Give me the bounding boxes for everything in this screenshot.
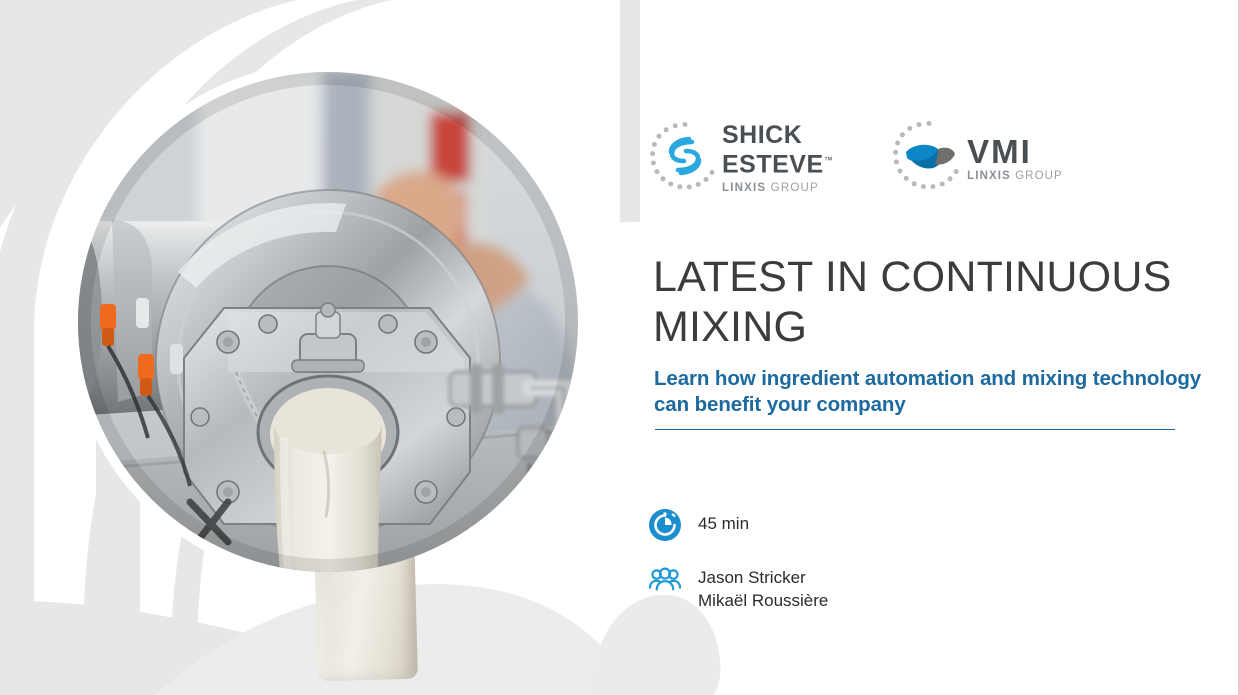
presenter-name-2: Mikaël Roussière [698,589,828,612]
title-divider [655,429,1175,430]
vmi-group-bold: LINXIS [967,170,1011,182]
vmi-group-light: GROUP [1015,170,1063,182]
shick-esteve-name-line2: ESTEVE [722,150,824,178]
people-group-icon [648,562,682,596]
logo-shick-esteve: SHICK ESTEVE™ LINXIS GROUP [648,119,833,198]
shick-esteve-wordmark: SHICK ESTEVE™ LINXIS GROUP [722,123,833,194]
presenter-name-1: Jason Stricker [698,566,828,589]
vmi-logo-mark [891,118,967,199]
logo-vmi: VMI LINXIS GROUP [891,118,1063,199]
presenter-names: Jason Stricker Mikaël Roussière [698,562,828,612]
logo-row: SHICK ESTEVE™ LINXIS GROUP [648,118,1063,199]
webinar-title-slide: SHICK ESTEVE™ LINXIS GROUP [0,0,1239,695]
content-column: SHICK ESTEVE™ LINXIS GROUP [640,0,1239,695]
duration-label: 45 min [698,508,749,535]
duration-row: 45 min [648,508,828,542]
shick-esteve-group-light: GROUP [771,182,819,194]
shick-esteve-group-bold: LINXIS [722,182,766,194]
vmi-wordmark: VMI LINXIS GROUP [967,136,1063,182]
shick-esteve-name-line1: SHICK [722,121,802,149]
page-subtitle: Learn how ingredient automation and mixi… [654,366,1238,418]
hero-photo [68,62,588,582]
shick-esteve-logo-mark [648,119,722,198]
page-title: LATEST IN CONTINUOUS MIXING [653,252,1233,352]
trademark-symbol: ™ [824,155,834,165]
vmi-name: VMI [967,136,1063,168]
photo-circle-clip [78,72,578,572]
stopwatch-icon [648,508,682,542]
presenters-row: Jason Stricker Mikaël Roussière [648,562,828,612]
session-meta: 45 min Jas [648,508,828,612]
